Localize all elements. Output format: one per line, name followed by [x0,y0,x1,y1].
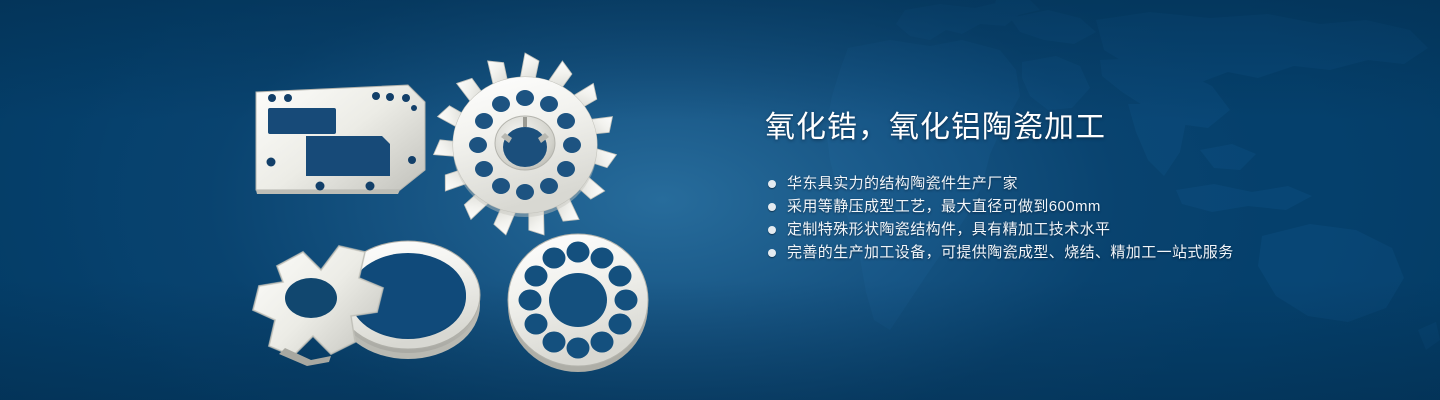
bullet-dot-icon [768,180,776,188]
banner-headline: 氧化锆，氧化铝陶瓷加工 [765,108,1385,148]
banner-text-block: 氧化锆，氧化铝陶瓷加工 华东具实力的结构陶瓷件生产厂家 采用等静压成型工艺，最大… [765,108,1385,264]
bullet-dot-icon [768,203,776,211]
feature-bullet-text: 完善的生产加工设备，可提供陶瓷成型、烧结、精加工一站式服务 [787,244,1234,261]
bullet-dot-icon [768,249,776,257]
feature-bullet-item: 定制特殊形状陶瓷结构件，具有精加工技术水平 [765,218,1385,241]
feature-bullet-item: 完善的生产加工设备，可提供陶瓷成型、烧结、精加工一站式服务 [765,241,1385,264]
feature-bullet-item: 采用等静压成型工艺，最大直径可做到600mm [765,195,1385,218]
feature-bullet-text: 华东具实力的结构陶瓷件生产厂家 [787,175,1018,192]
feature-bullet-item: 华东具实力的结构陶瓷件生产厂家 [765,172,1385,195]
ceramic-perforated-disc-shape [508,234,648,372]
ceramic-machined-plate-shape [256,85,425,194]
product-photo-group [230,40,700,380]
bullet-dot-icon [768,226,776,234]
ceramic-impeller-shape [432,53,617,238]
feature-bullet-text: 采用等静压成型工艺，最大直径可做到600mm [787,198,1101,215]
feature-bullet-text: 定制特殊形状陶瓷结构件，具有精加工技术水平 [787,221,1110,238]
feature-bullet-list: 华东具实力的结构陶瓷件生产厂家 采用等静压成型工艺，最大直径可做到600mm 定… [765,172,1385,264]
promo-banner: 氧化锆，氧化铝陶瓷加工 华东具实力的结构陶瓷件生产厂家 采用等静压成型工艺，最大… [0,0,1440,400]
